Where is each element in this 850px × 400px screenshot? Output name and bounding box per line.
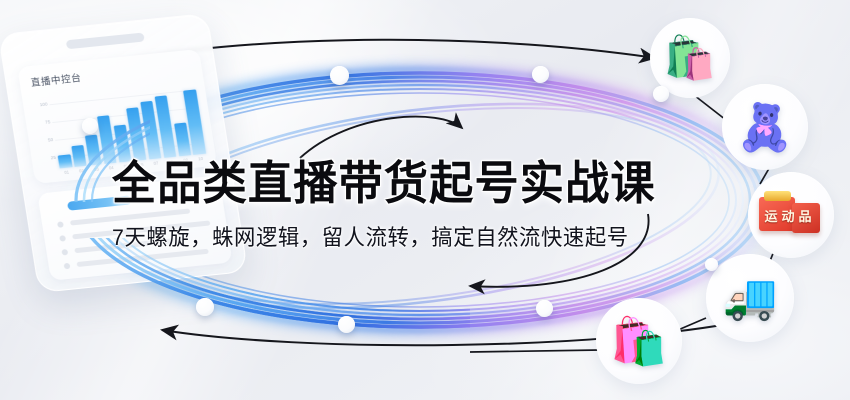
ring-node [196,298,214,316]
x-label: 01 [60,169,73,175]
ring-node [705,258,718,271]
y-label: 50 [37,137,54,144]
shopping-bag-blue-icon: 🛍️ [610,318,667,364]
sports-goods-box-graphic: 运动品 [759,187,823,243]
ring-node [653,86,669,102]
y-label: 75 [34,119,51,126]
shopping-bag-peach-icon: 🛍️ [664,37,716,79]
ring-node [338,316,355,333]
bar [85,135,102,166]
ring-node [536,300,553,317]
bar [58,155,72,169]
page-title: 全品类直播带货起号实战课 [112,160,726,207]
arrow-inner-top [300,117,462,158]
bar-chart [49,83,207,168]
bar [71,145,87,167]
page-subtitle: 7天螺旋，蛛网逻辑，留人流转，搞定自然流快速起号 [112,220,733,252]
teddy-bear-icon: 🧸 [736,104,793,150]
ring-node [532,66,549,83]
product-bubble-teddy-bear: 🧸 [722,84,808,170]
ring-node [82,118,98,134]
chart-panel-title: 直播中控台 [30,70,83,89]
product-bubble-delivery-truck: 🚚 [706,254,794,342]
banner-root: 直播中控台 100 75 50 25 01020304050607080910 [0,0,850,400]
y-label: 25 [40,155,57,162]
y-label: 100 [31,102,48,109]
ring-node [330,66,349,85]
x-label: 02 [75,168,88,174]
card-notch [66,33,145,50]
headline-block: 全品类直播带货起号实战课 7天螺旋，蛛网逻辑，留人流转，搞定自然流快速起号 [112,160,752,252]
delivery-truck-icon: 🚚 [723,276,778,320]
sports-goods-box-label: 运动品 [761,206,819,225]
x-label: 03 [90,166,103,172]
product-bubble-sports-goods-box: 运动品 [748,172,834,258]
product-bubble-shopping-bag-blue: 🛍️ [596,298,682,384]
